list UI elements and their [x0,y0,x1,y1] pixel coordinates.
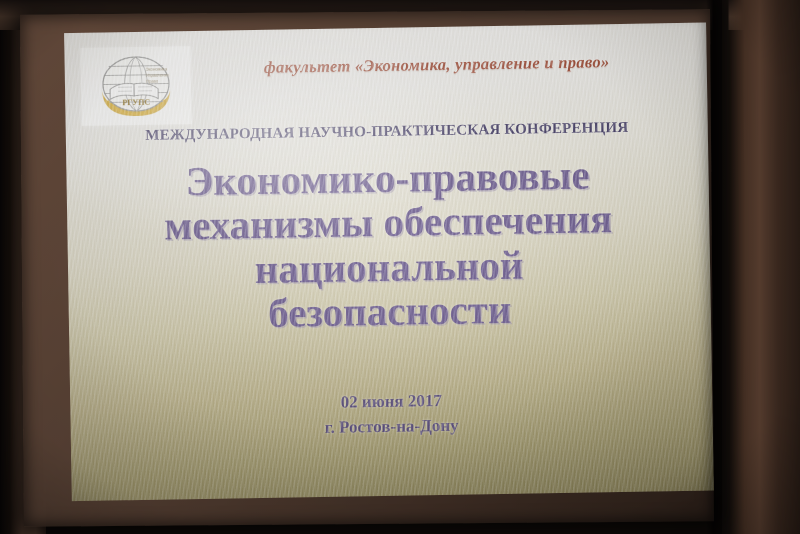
projection-screen-frame: Экономика Управление Право РГУПС факульт… [20,9,714,526]
globe-book-emblem-icon: Экономика Управление Право РГУПС [87,52,184,120]
svg-text:Управление: Управление [146,72,170,77]
slide-content: Экономика Управление Право РГУПС факульт… [64,23,714,502]
faculty-line: факультет «Экономика, управление и право… [207,51,667,79]
wooden-door [716,0,800,534]
svg-text:РГУПС: РГУПС [122,98,150,107]
date-location-block: 02 июня 2017 г. Ростов-на-Дону [70,384,713,444]
photo-scene: Экономика Управление Право РГУПС факульт… [0,0,800,534]
title-line-4: безопасности [68,283,711,338]
svg-text:Экономика: Экономика [146,66,168,71]
slide-title: Экономико-правовые механизмы обеспечения… [66,151,711,339]
svg-text:Право: Право [146,79,159,84]
projected-slide: Экономика Управление Право РГУПС факульт… [64,23,714,502]
university-logo: Экономика Управление Право РГУПС [80,46,191,126]
